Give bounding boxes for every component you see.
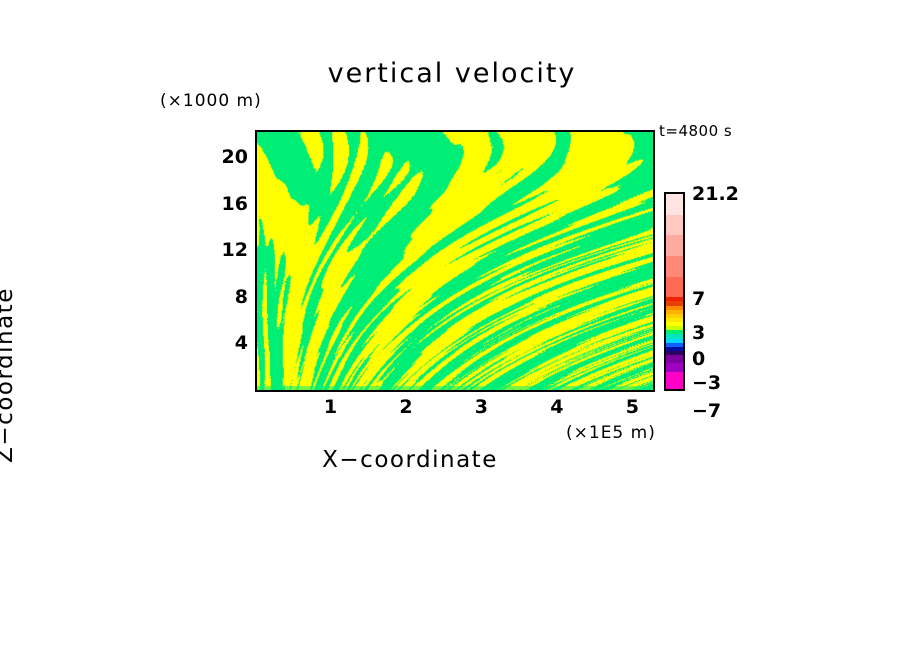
y-tick-label: 16	[208, 193, 248, 215]
colorbar-gradient	[664, 192, 685, 391]
y-tick-label: 12	[208, 239, 248, 261]
y-axis-title: Z−coordinate	[0, 175, 18, 575]
y-tick-label: 4	[208, 332, 248, 354]
colorbar-band	[666, 194, 683, 215]
colorbar-tick-label: 21.2	[692, 183, 739, 205]
x-axis-ticks: 12345	[255, 396, 655, 424]
colorbar-tick-label: −3	[692, 372, 721, 394]
colorbar-band	[666, 363, 683, 371]
y-tick-label: 20	[208, 146, 248, 168]
colorbar-band	[666, 235, 683, 256]
colorbar-tick-label: 7	[692, 288, 705, 310]
colorbar-tick-label: −7	[692, 400, 721, 422]
colorbar-band	[666, 355, 683, 363]
y-axis-ticks: 20161284	[186, 130, 248, 392]
x-axis-title: X−coordinate	[0, 447, 820, 473]
x-tick-label: 2	[386, 396, 426, 418]
x-tick-label: 5	[612, 396, 652, 418]
x-tick-label: 3	[461, 396, 501, 418]
page-title: vertical velocity	[0, 58, 904, 89]
y-axis-units-label: (×1000 m)	[160, 91, 262, 111]
colorbar-band	[666, 372, 683, 389]
colorbar-legend: 21.2730−3−7	[664, 192, 784, 392]
colorbar-tick-label: 0	[692, 348, 705, 370]
x-axis-units-label: (×1E5 m)	[566, 423, 656, 443]
contour-plot-area	[255, 130, 655, 392]
y-tick-label: 8	[208, 286, 248, 308]
colorbar-tick-label: 3	[692, 322, 705, 344]
colorbar-band	[666, 256, 683, 277]
colorbar-band	[666, 277, 683, 298]
colorbar-band	[666, 215, 683, 236]
x-tick-label: 4	[537, 396, 577, 418]
vertical-velocity-field	[257, 132, 653, 390]
time-annotation: t=4800 s	[659, 122, 732, 140]
x-tick-label: 1	[310, 396, 350, 418]
